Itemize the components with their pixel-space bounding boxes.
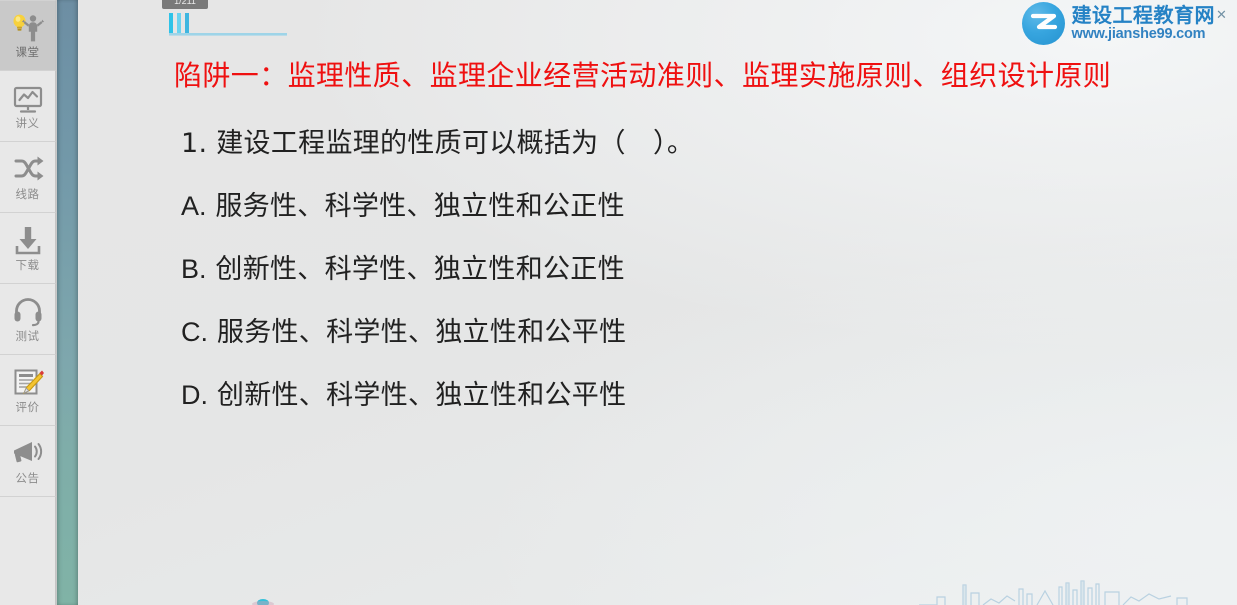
slide-skyline-decoration xyxy=(919,563,1219,605)
sidebar-item-announcement[interactable]: 公告 xyxy=(0,426,56,497)
option-b: B. 创新性、科学性、独立性和公正性 xyxy=(181,238,1203,301)
sidebar-label-route: 线路 xyxy=(16,189,40,202)
route-shuffle-icon xyxy=(11,153,45,187)
sidebar-label-handout: 讲义 xyxy=(16,118,40,131)
option-d-text: 创新性、科学性、独立性和公平性 xyxy=(217,380,627,411)
slide-text-body: 陷阱一：监理性质、监理企业经营活动准则、监理实施原则、组织设计原则 1. 建设工… xyxy=(78,0,1237,427)
sidebar-label-download: 下载 xyxy=(16,260,40,273)
sidebar-filler xyxy=(0,497,56,605)
sidebar-label-test: 测试 xyxy=(16,331,40,344)
player-window: 课堂 讲义 线路 xyxy=(0,0,1237,605)
option-c-letter: C. xyxy=(181,317,208,347)
option-c-text: 服务性、科学性、独立性和公平性 xyxy=(217,317,627,348)
classroom-idea-icon xyxy=(11,11,45,45)
question-stem: 1. 建设工程监理的性质可以概括为（ ）。 xyxy=(181,112,1203,175)
slide-content-area: 1/211 建设工程教育网 www.jianshe99.com ✕ 陷阱 xyxy=(78,0,1237,605)
sidebar-item-handout[interactable]: 讲义 xyxy=(0,71,56,142)
option-a-text: 服务性、科学性、独立性和公正性 xyxy=(215,191,625,222)
sidebar-divider-strip xyxy=(57,0,78,605)
option-b-letter: B. xyxy=(181,254,207,284)
question-block: 1. 建设工程监理的性质可以概括为（ ）。 A. 服务性、科学性、独立性和公正性… xyxy=(116,112,1203,427)
slide-heading: 陷阱一：监理性质、监理企业经营活动准则、监理实施原则、组织设计原则 xyxy=(116,52,1203,99)
option-a-letter: A. xyxy=(181,191,207,221)
option-a: A. 服务性、科学性、独立性和公正性 xyxy=(181,175,1203,238)
handout-board-icon xyxy=(11,82,45,116)
sidebar-item-test[interactable]: 测试 xyxy=(0,284,56,355)
left-sidebar: 课堂 讲义 线路 xyxy=(0,0,57,605)
sidebar-label-classroom: 课堂 xyxy=(16,47,40,60)
download-arrow-icon xyxy=(11,224,45,258)
sidebar-item-evaluate[interactable]: 评价 xyxy=(0,355,56,426)
sidebar-item-route[interactable]: 线路 xyxy=(0,142,56,213)
sidebar-item-download[interactable]: 下载 xyxy=(0,213,56,284)
slide-decor-dot xyxy=(250,591,276,605)
sidebar-item-classroom[interactable]: 课堂 xyxy=(0,0,56,71)
announcement-megaphone-icon xyxy=(11,437,45,471)
headset-test-icon xyxy=(11,295,45,329)
option-c: C. 服务性、科学性、独立性和公平性 xyxy=(181,301,1203,364)
sidebar-label-announcement: 公告 xyxy=(16,473,40,486)
option-b-text: 创新性、科学性、独立性和公正性 xyxy=(215,254,625,285)
option-d: D. 创新性、科学性、独立性和公平性 xyxy=(181,364,1203,427)
option-d-letter: D. xyxy=(181,380,208,410)
evaluate-pencil-icon xyxy=(11,366,45,400)
sidebar-label-evaluate: 评价 xyxy=(16,402,40,415)
